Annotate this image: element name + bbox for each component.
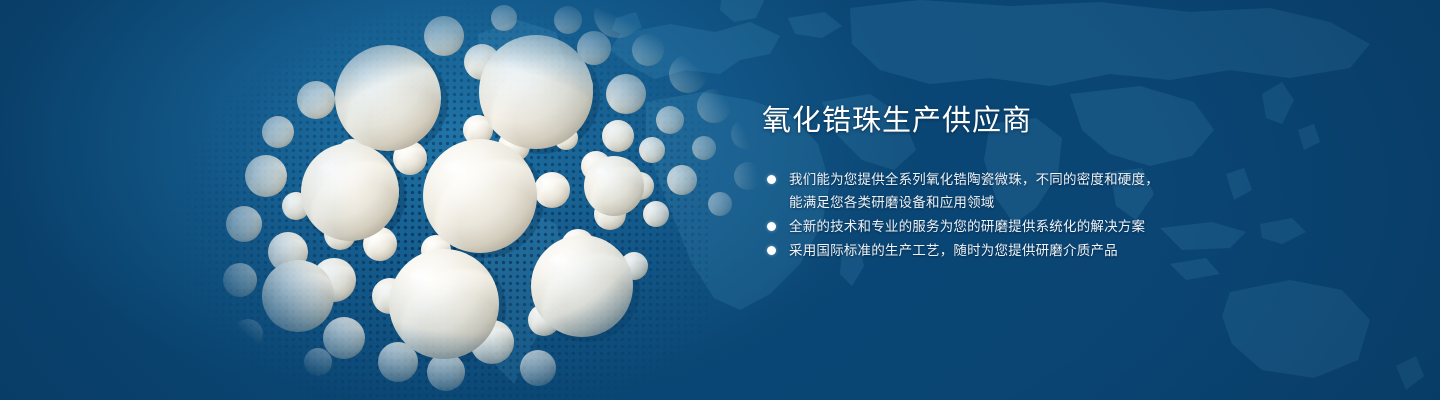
- filled-circle-bullet-icon: [767, 246, 776, 255]
- filled-circle-bullet-icon: [767, 222, 776, 231]
- feature-item: 采用国际标准的生产工艺，随时为您提供研磨介质产品: [762, 239, 1232, 262]
- banner-headline: 氧化锆珠生产供应商: [762, 104, 1232, 138]
- feature-line-1: 我们能为您提供全系列氧化锆陶瓷微珠，不同的密度和硬度，: [789, 172, 1159, 187]
- feature-item: 我们能为您提供全系列氧化锆陶瓷微珠，不同的密度和硬度， 能满足您各类研磨设备和应…: [762, 168, 1232, 214]
- feature-item: 全新的技术和专业的服务为您的研磨提供系统化的解决方案: [762, 215, 1232, 238]
- feature-line-1: 采用国际标准的生产工艺，随时为您提供研磨介质产品: [789, 243, 1118, 258]
- hero-banner: 氧化锆珠生产供应商 我们能为您提供全系列氧化锆陶瓷微珠，不同的密度和硬度， 能满…: [0, 0, 1440, 400]
- filled-circle-bullet-icon: [767, 175, 776, 184]
- feature-line-2: 能满足您各类研磨设备和应用领域: [789, 191, 1232, 214]
- banner-text-block: 氧化锆珠生产供应商 我们能为您提供全系列氧化锆陶瓷微珠，不同的密度和硬度， 能满…: [762, 104, 1232, 263]
- banner-feature-list: 我们能为您提供全系列氧化锆陶瓷微珠，不同的密度和硬度， 能满足您各类研磨设备和应…: [762, 168, 1232, 262]
- feature-line-1: 全新的技术和专业的服务为您的研磨提供系统化的解决方案: [789, 219, 1145, 234]
